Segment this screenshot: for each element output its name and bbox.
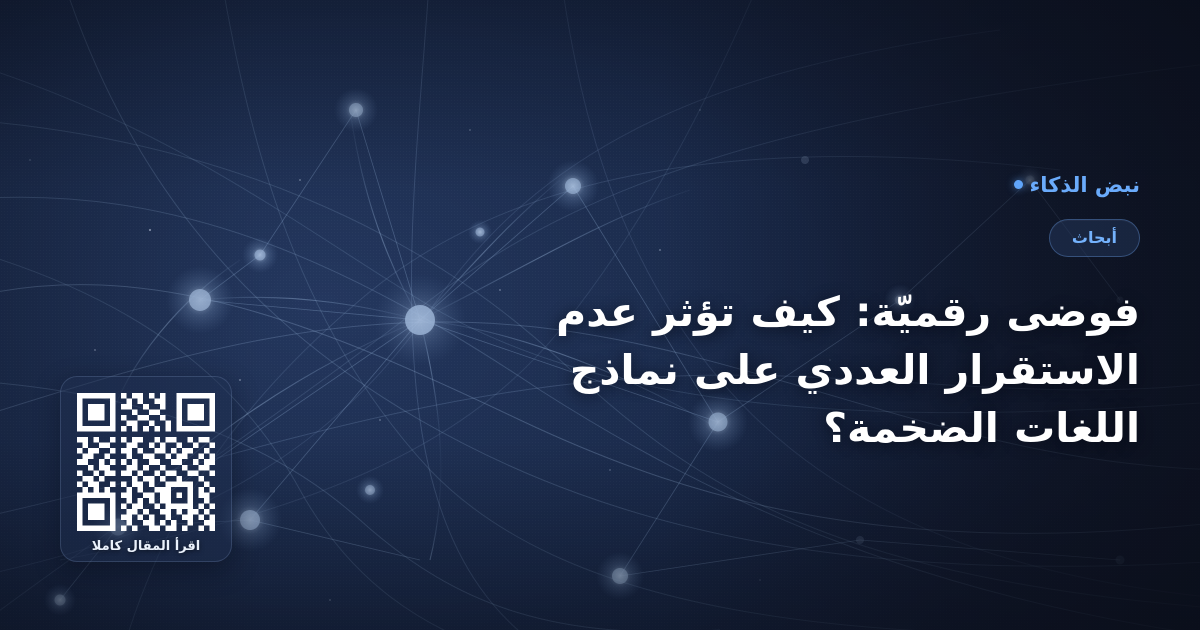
- card-content: نبض الذكاء أبحاث فوضى رقميّة: كيف تؤثر ع…: [500, 0, 1200, 630]
- page-title: فوضى رقميّة: كيف تؤثر عدم الاستقرار العد…: [500, 283, 1140, 458]
- brand-name: نبض الذكاء: [1030, 173, 1140, 197]
- brand-logo: نبض الذكاء: [1014, 173, 1140, 197]
- qr-caption: اقرأ المقال كاملا: [92, 539, 201, 554]
- bullet-dot-icon: [1014, 180, 1023, 189]
- qr-code-icon: [77, 393, 215, 531]
- og-share-card: نبض الذكاء أبحاث فوضى رقميّة: كيف تؤثر ع…: [0, 0, 1200, 630]
- category-badge: أبحاث: [1049, 219, 1140, 257]
- qr-card[interactable]: اقرأ المقال كاملا: [60, 376, 232, 562]
